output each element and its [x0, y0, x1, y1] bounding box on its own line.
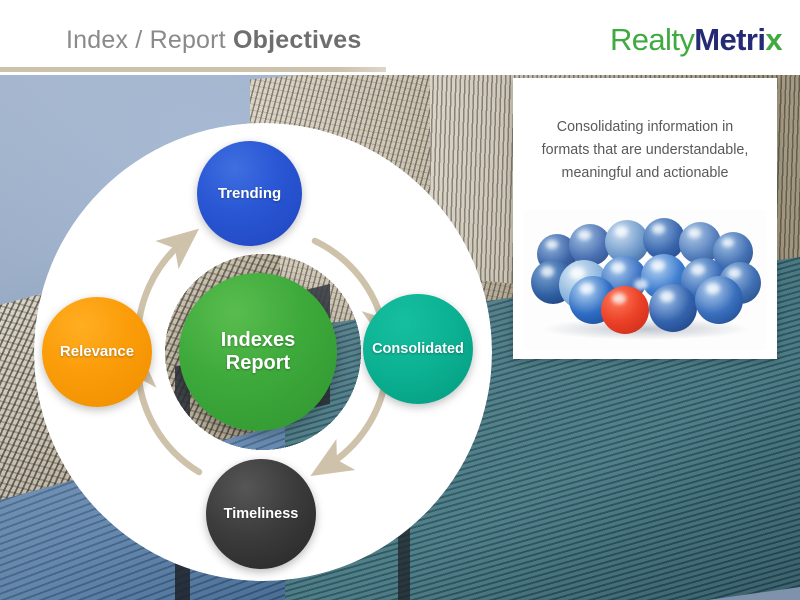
caption-line-1: Consolidating information in — [557, 119, 733, 135]
center-line-1: Indexes — [221, 329, 295, 351]
node-timeliness[interactable]: Timeliness — [206, 459, 316, 569]
page-title-bold: Objectives — [233, 26, 361, 54]
node-trending[interactable]: Trending — [197, 141, 302, 246]
page-title: Index / Report Objectives — [66, 26, 361, 55]
node-relevance[interactable]: Relevance — [42, 297, 152, 407]
title-underline-rule — [0, 67, 386, 72]
caption-line-2: formats that are understandable, — [542, 142, 749, 158]
side-info-card: Consolidating information in formats tha… — [513, 78, 777, 359]
logo-part-x: x — [765, 22, 782, 57]
marble-blue — [649, 284, 697, 332]
slide-canvas: Trending Consolidated Timeliness Relevan… — [0, 0, 800, 600]
marble-red — [601, 286, 649, 334]
node-consolidated-label: Consolidated — [372, 341, 464, 358]
caption-line-3: meaningful and actionable — [562, 165, 729, 181]
node-trending-label: Trending — [218, 185, 281, 202]
side-card-caption: Consolidating information in formats tha… — [527, 116, 763, 185]
marbles-image — [523, 210, 767, 350]
cycle-diagram: Trending Consolidated Timeliness Relevan… — [34, 123, 492, 581]
center-line-2: Report — [226, 352, 290, 374]
logo-part-realty: Realty — [610, 22, 694, 57]
node-center-label: IndexesReport — [221, 329, 295, 375]
page-title-normal: Index / Report — [66, 26, 233, 54]
logo-part-metri: Metri — [694, 22, 765, 57]
arrow-consolidated-to-timeliness — [327, 377, 386, 466]
node-timeliness-label: Timeliness — [224, 506, 299, 523]
slide-header: Index / Report Objectives RealtyMetrix — [0, 0, 800, 75]
node-center-indexes-report[interactable]: IndexesReport — [179, 273, 337, 431]
marble-blue — [695, 276, 743, 324]
node-consolidated[interactable]: Consolidated — [363, 294, 473, 404]
realtymetrix-logo[interactable]: RealtyMetrix — [610, 22, 782, 58]
node-relevance-label: Relevance — [60, 343, 134, 360]
